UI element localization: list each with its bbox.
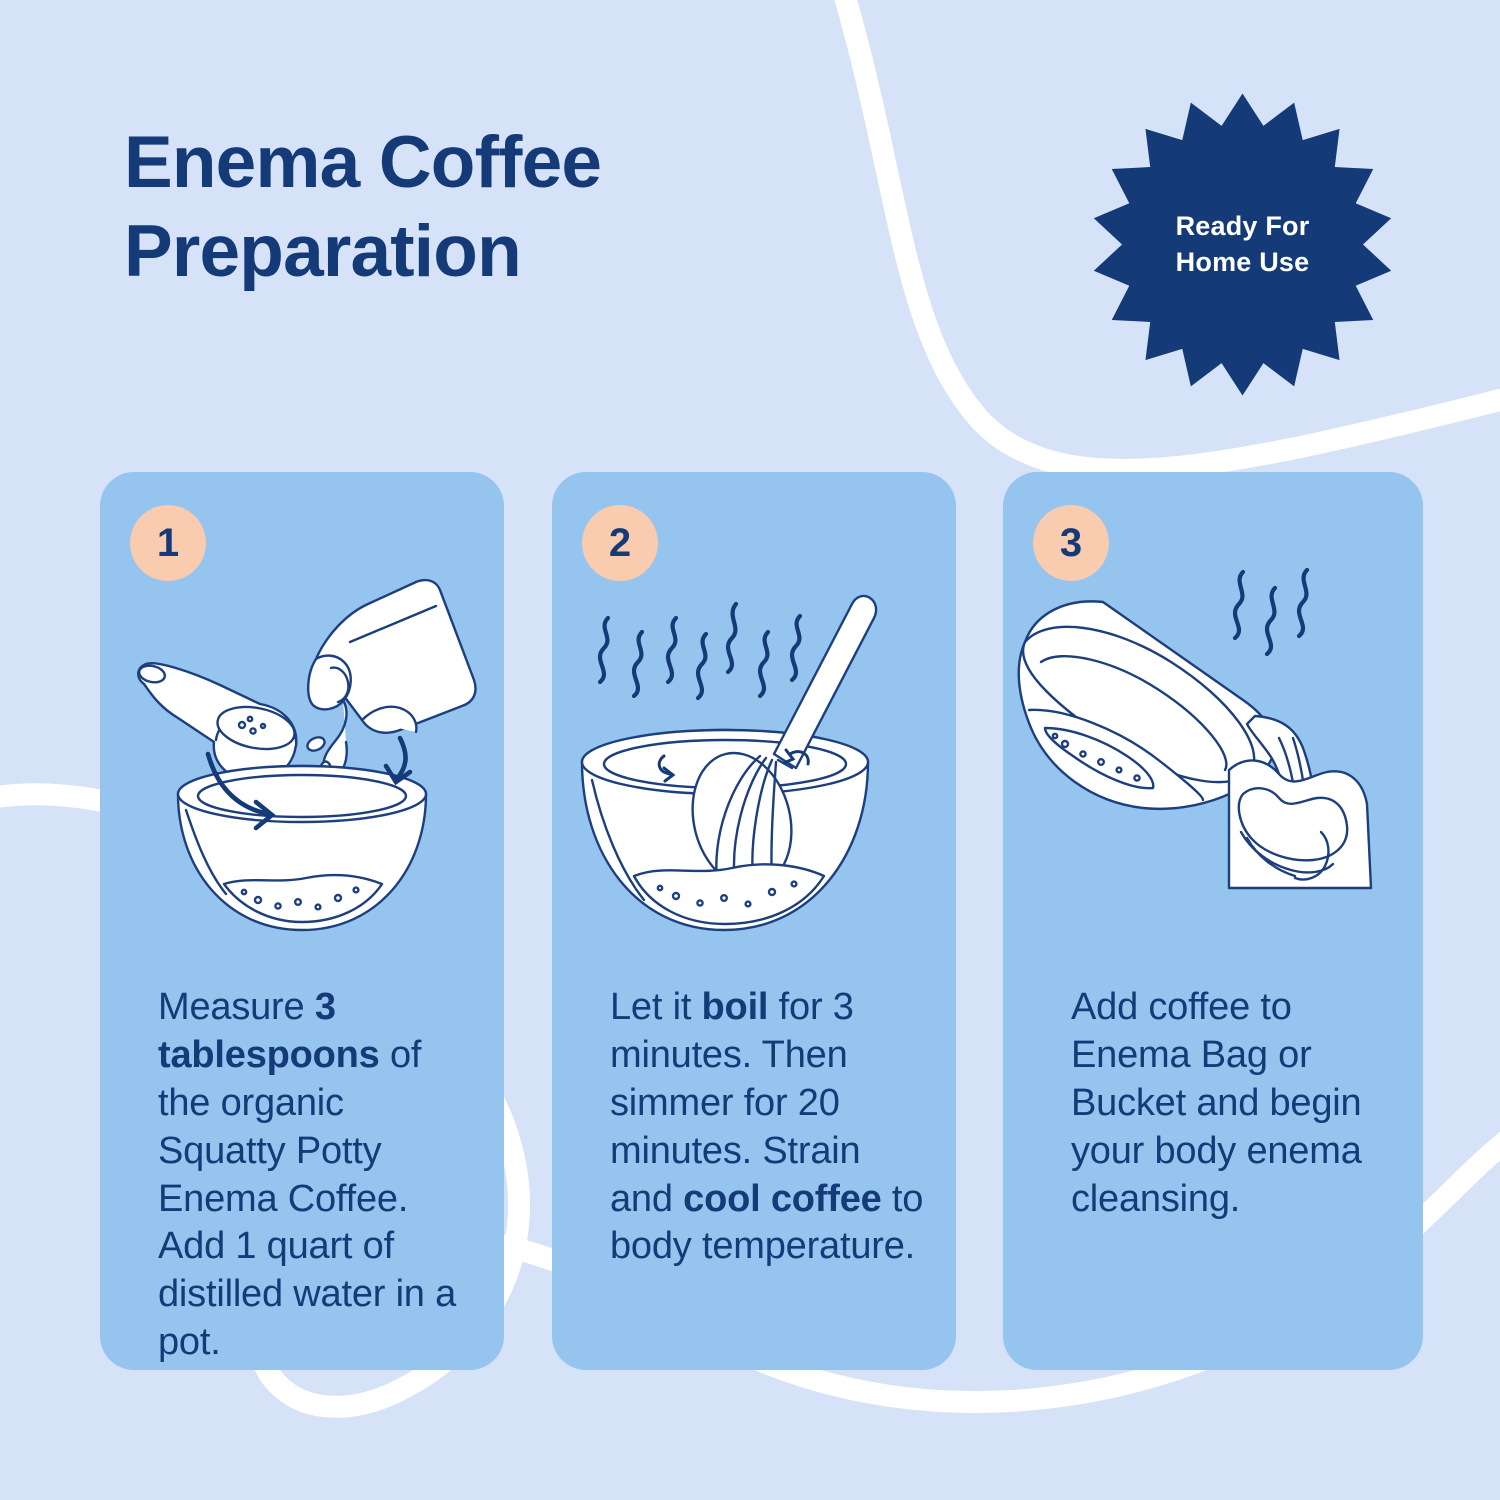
- title-line-2: Preparation: [124, 207, 884, 296]
- badge-text: Ready For Home Use: [1090, 92, 1395, 397]
- step-text-3: Add coffee to Enema Bag or Bucket and be…: [1071, 984, 1393, 1223]
- steam-lines: [1235, 570, 1307, 654]
- body-text: Add coffee to Enema Bag or Bucket and be…: [1071, 986, 1362, 1220]
- illustration-measuring-spoon-bag-bowl: [100, 532, 504, 952]
- title-line-1: Enema Coffee: [124, 118, 884, 207]
- emphasis-text: boil: [702, 986, 769, 1028]
- step-3-illustration-icon: [1003, 532, 1423, 952]
- illustration-pouring-bowl-into-enema-bag: [1003, 532, 1423, 952]
- body-text: Measure: [158, 986, 315, 1028]
- page-title: Enema Coffee Preparation: [124, 118, 884, 296]
- body-text: Let it: [610, 986, 702, 1028]
- step-card-2: 2: [552, 472, 956, 1370]
- step-1-illustration-icon: [100, 532, 504, 952]
- infographic-poster: Enema Coffee Preparation Ready For Home …: [0, 0, 1500, 1500]
- badge-line-2: Home Use: [1176, 245, 1310, 280]
- ready-for-home-use-badge: Ready For Home Use: [1090, 92, 1395, 397]
- badge-line-1: Ready For: [1176, 209, 1310, 244]
- step-card-1: 1: [100, 472, 504, 1370]
- step-card-3: 3: [1003, 472, 1423, 1370]
- steam-lines: [600, 604, 800, 698]
- illustration-bowl-with-whisk-and-steam: [552, 532, 956, 952]
- step-2-illustration-icon: [552, 532, 956, 952]
- step-text-2: Let it boil for 3 minutes. Then simmer f…: [610, 984, 926, 1271]
- body-text: of the organic Squatty Potty Enema Coffe…: [158, 1034, 456, 1363]
- step-text-1: Measure 3 tablespoons of the organic Squ…: [158, 984, 474, 1367]
- emphasis-text: cool coffee: [683, 1178, 881, 1220]
